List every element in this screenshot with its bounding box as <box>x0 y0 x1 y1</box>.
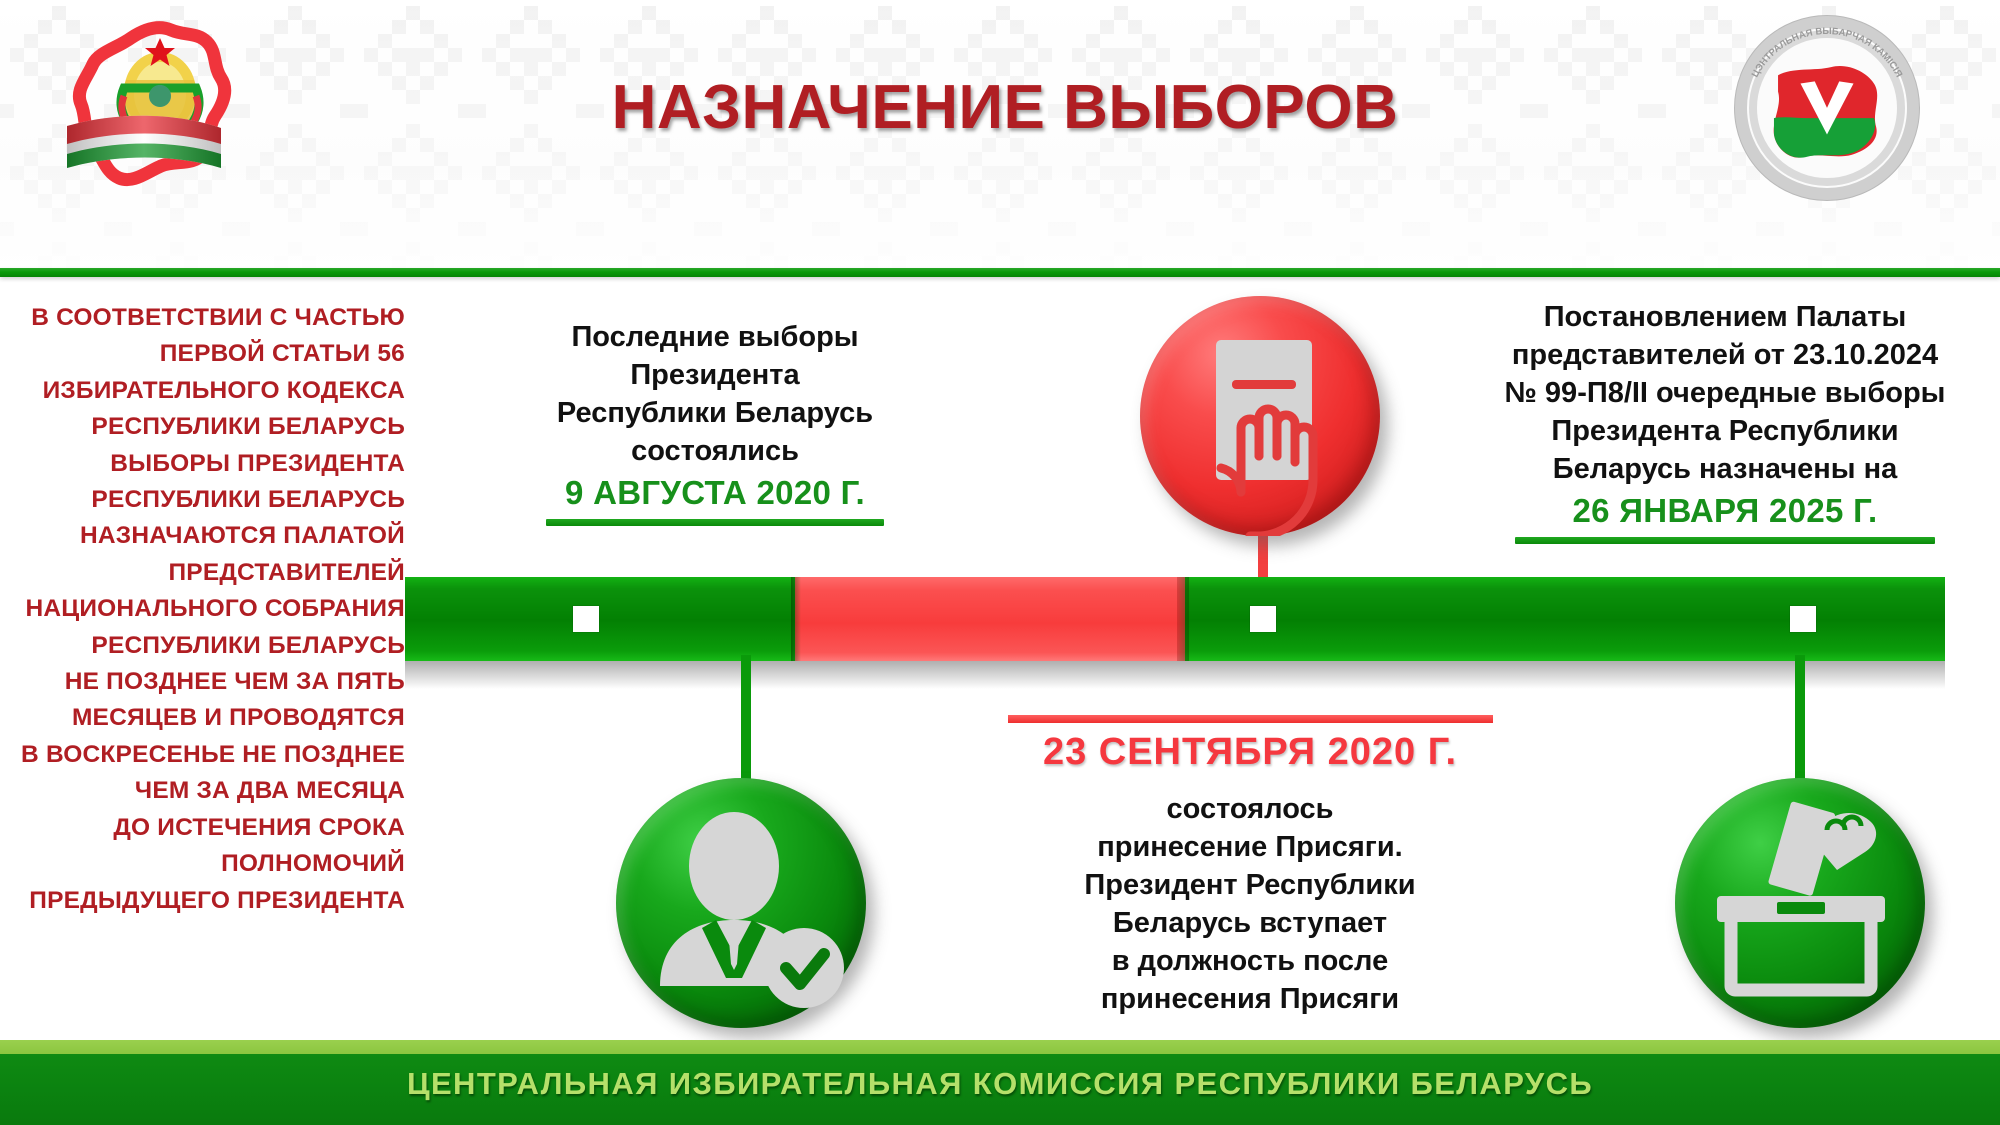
cec-seal-icon: ЦЭНТРАЛЬНАЯ ВЫБАРЧАЯ КАМІСІЯ <box>1725 8 1930 208</box>
timeline-node-center <box>1250 606 1276 632</box>
law-line: ВЫБОРЫ ПРЕЗИДЕНТА <box>10 446 405 482</box>
law-line: РЕСПУБЛИКИ БЕЛАРУСЬ <box>10 628 405 664</box>
timeline-right-date: 26 ЯНВАРЯ 2025 Г. <box>1490 492 1960 530</box>
timeline-right-body: Постановлением Палаты представителей от … <box>1490 298 1960 488</box>
oath-badge <box>1140 296 1380 536</box>
left-date-underline <box>546 519 884 526</box>
law-line: НАЦИОНАЛЬНОГО СОБРАНИЯ <box>10 591 405 627</box>
law-line: НАЗНАЧАЮТСЯ ПАЛАТОЙ <box>10 518 405 554</box>
footer-organization-name: ЦЕНТРАЛЬНАЯ ИЗБИРАТЕЛЬНАЯ КОМИССИЯ РЕСПУ… <box>0 1066 2000 1102</box>
timeline-segment-red <box>795 577 1185 661</box>
law-line: ПРЕДСТАВИТЕЛЕЙ <box>10 555 405 591</box>
right-connector-line <box>1795 655 1805 790</box>
page-title: НАЗНАЧЕНИЕ ВЫБОРОВ <box>430 72 1580 143</box>
header-divider-rule <box>0 268 2000 277</box>
timeline-center-body: состоялось принесение Присяги. Президент… <box>1020 790 1480 1018</box>
law-line: ПРЕДЫДУЩЕГО ПРЕЗИДЕНТА <box>10 883 405 919</box>
belarus-state-emblem-icon: РЭСПУБЛІКА <box>45 8 275 208</box>
timeline-left-date: 9 АВГУСТА 2020 Г. <box>540 474 890 512</box>
timeline-node-right <box>1790 606 1816 632</box>
law-article-text: В СООТВЕТСТВИИ С ЧАСТЬЮ ПЕРВОЙ СТАТЬИ 56… <box>10 300 405 919</box>
left-connector-line <box>741 655 751 790</box>
law-line: В СООТВЕТСТВИИ С ЧАСТЬЮ <box>10 300 405 336</box>
timeline-left-block: Последние выборы Президента Республики Б… <box>540 318 890 526</box>
law-line: НЕ ПОЗДНЕЕ ЧЕМ ЗА ПЯТЬ <box>10 664 405 700</box>
timeline-segment-green-left <box>405 577 795 661</box>
law-line: РЕСПУБЛИКИ БЕЛАРУСЬ <box>10 409 405 445</box>
law-line: В ВОСКРЕСЕНЬЕ НЕ ПОЗДНЕЕ <box>10 737 405 773</box>
right-date-underline <box>1515 537 1935 544</box>
timeline-left-body: Последние выборы Президента Республики Б… <box>540 318 890 470</box>
timeline-bar <box>405 577 1945 677</box>
ballot-badge <box>1675 778 1925 1028</box>
header-band: РЭСПУБЛІКА ЦЭНТРАЛЬНАЯ ВЫБАРЧАЯ КАМІСІЯ <box>0 0 2000 272</box>
law-line: ПЕРВОЙ СТАТЬИ 56 <box>10 336 405 372</box>
president-person-check-icon <box>616 778 866 1028</box>
infographic-poster: РЭСПУБЛІКА ЦЭНТРАЛЬНАЯ ВЫБАРЧАЯ КАМІСІЯ <box>0 0 2000 1125</box>
oath-hand-on-document-icon <box>1140 296 1380 536</box>
footer-accent-stripe <box>0 1040 2000 1054</box>
timeline-center-date-wrap: 23 СЕНТЯБРЯ 2020 Г. <box>1000 715 1500 774</box>
bar-bevel-left <box>791 577 801 661</box>
law-line: ИЗБИРАТЕЛЬНОГО КОДЕКСА <box>10 373 405 409</box>
law-line: РЕСПУБЛИКИ БЕЛАРУСЬ <box>10 482 405 518</box>
timeline-bar-shadow <box>405 661 1945 689</box>
law-line: МЕСЯЦЕВ И ПРОВОДЯТСЯ <box>10 700 405 736</box>
timeline-node-left <box>573 606 599 632</box>
law-line: ПОЛНОМОЧИЙ <box>10 846 405 882</box>
timeline-right-block: Постановлением Палаты представителей от … <box>1490 298 1960 544</box>
law-line: ДО ИСТЕЧЕНИЯ СРОКА <box>10 810 405 846</box>
hand-casting-ballot-box-icon <box>1675 778 1925 1028</box>
timeline-center-date: 23 СЕНТЯБРЯ 2020 Г. <box>1043 731 1457 773</box>
center-date-overline <box>1008 715 1493 723</box>
timeline-segment-green-right <box>1185 577 1945 661</box>
bar-bevel-right <box>1177 577 1189 661</box>
president-badge <box>616 778 866 1028</box>
law-line: ЧЕМ ЗА ДВА МЕСЯЦА <box>10 773 405 809</box>
